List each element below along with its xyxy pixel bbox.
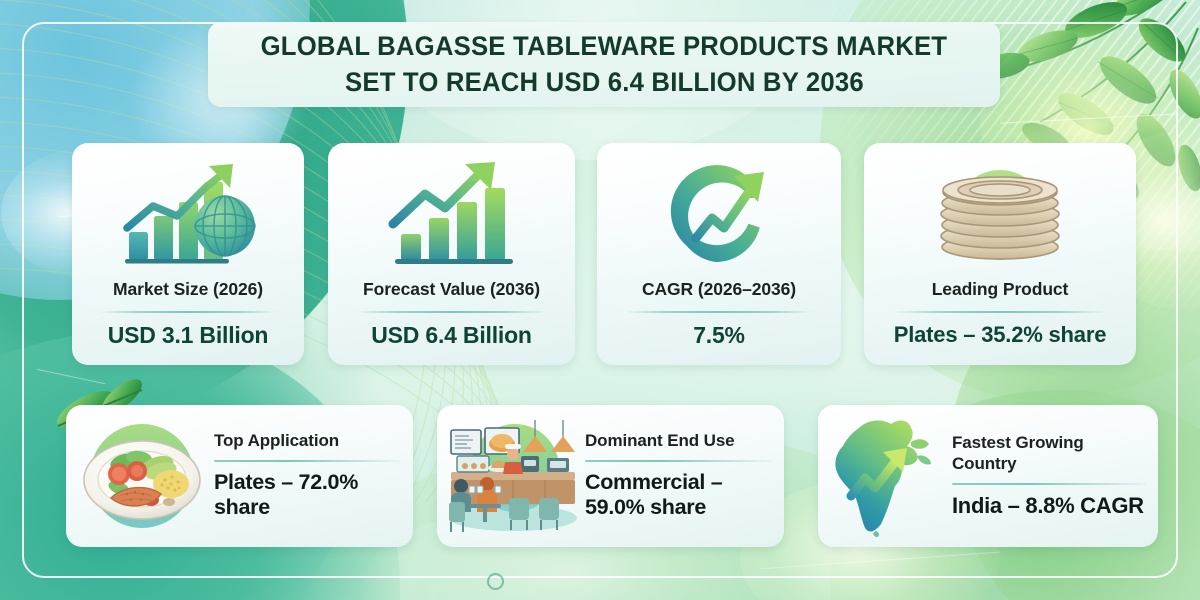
bar-chart-globe-icon [82,153,294,279]
stat-card-value: 7.5% [693,322,745,349]
card-divider [99,311,277,313]
card-divider [952,483,1146,485]
card-divider [894,311,1106,313]
stat-card-top-application[interactable]: Top Application Plates – 72.0% share [66,405,413,547]
stat-card-market-size[interactable]: Market Size (2026) USD 3.1 Billion [72,143,304,365]
stat-card-value: USD 3.1 Billion [108,322,269,349]
stat-card-leading-product[interactable]: Leading Product Plates – 35.2% share [864,143,1136,365]
stat-card-label: Leading Product [932,279,1069,300]
stat-card-label: Dominant End Use [585,431,772,452]
restaurant-counter-icon [447,413,579,539]
stat-card-label: Market Size (2026) [113,279,263,300]
india-map-growth-icon [828,413,946,539]
stat-card-value: Plates – 72.0% share [214,470,401,522]
page-title-line-1: GLOBAL BAGASSE TABLEWARE PRODUCTS MARKET [261,29,948,64]
stat-card-label: Fastest Growing Country [952,433,1146,474]
card-divider [585,460,772,462]
page-title-line-2: SET TO REACH USD 6.4 BILLION BY 2036 [345,65,864,100]
stat-card-value: Plates – 35.2% share [894,322,1106,348]
food-plate-icon [76,413,208,539]
stat-card-label: Forecast Value (2036) [363,279,540,300]
card-divider [356,311,547,313]
stat-card-value: Commercial – 59.0% share [585,470,772,522]
page-title: GLOBAL BAGASSE TABLEWARE PRODUCTS MARKET… [208,22,1000,107]
stat-card-dominant-end-use[interactable]: Dominant End Use Commercial – 59.0% shar… [437,405,784,547]
stat-card-value: India – 8.8% CAGR [952,493,1146,519]
stacked-plates-icon [874,153,1126,279]
card-divider [625,311,813,313]
stat-card-label: Top Application [214,431,401,452]
stat-card-text: Top Application Plates – 72.0% share [208,431,401,521]
stat-card-label: CAGR (2026–2036) [642,279,796,300]
stat-card-forecast-value[interactable]: Forecast Value (2036) USD 6.4 Billion [328,143,575,365]
stat-card-value: USD 6.4 Billion [371,322,532,349]
stat-card-text: Dominant End Use Commercial – 59.0% shar… [579,431,772,521]
card-divider [214,460,401,462]
stat-card-cagr[interactable]: CAGR (2026–2036) 7.5% [597,143,841,365]
stat-card-fastest-growing-country[interactable]: Fastest Growing Country India – 8.8% CAG… [818,405,1158,547]
circular-growth-arrow-icon [607,153,831,279]
growth-bars-arrow-icon [338,153,565,279]
infographic-canvas: GLOBAL BAGASSE TABLEWARE PRODUCTS MARKET… [0,0,1200,600]
stat-card-text: Fastest Growing Country India – 8.8% CAG… [946,433,1146,519]
